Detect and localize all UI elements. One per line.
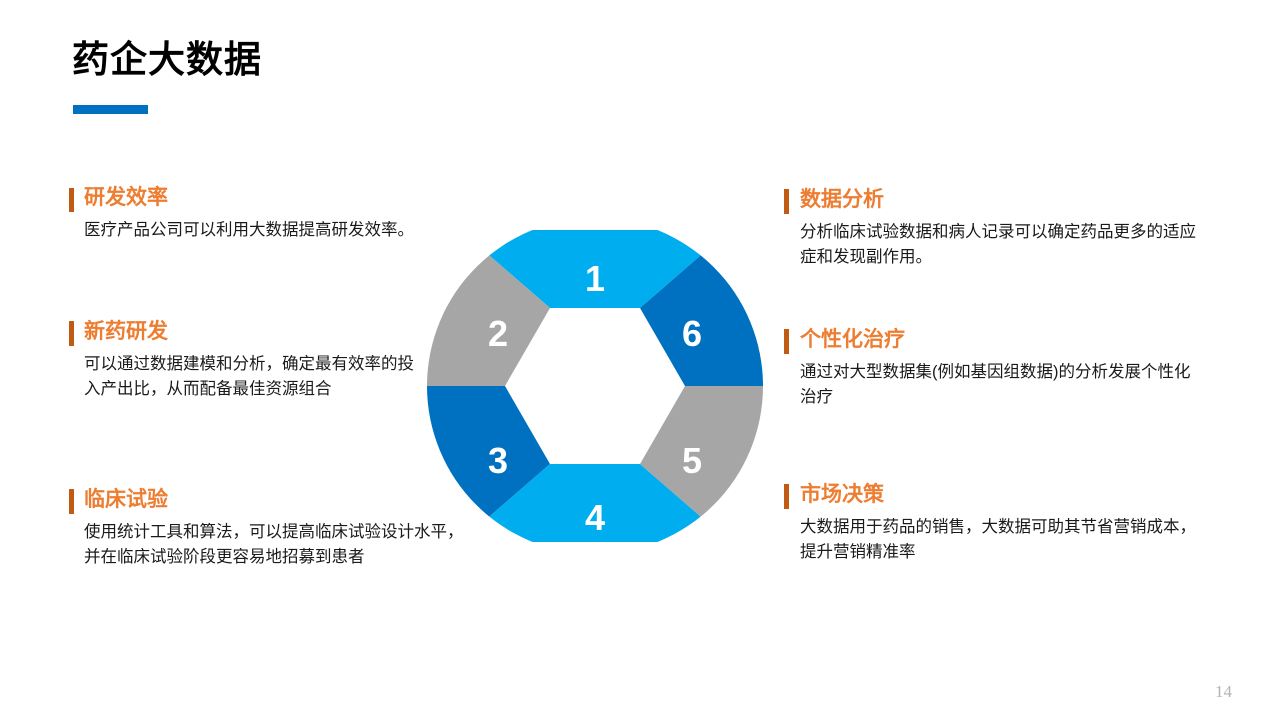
info-block-new-drug-rd: 新药研发 可以通过数据建模和分析，确定最有效率的投入产出比，从而配备最佳资源组合: [84, 320, 414, 402]
info-block-body: 可以通过数据建模和分析，确定最有效率的投入产出比，从而配备最佳资源组合: [84, 352, 414, 402]
info-block-body: 医疗产品公司可以利用大数据提高研发效率。: [84, 218, 414, 243]
info-block-heading: 临床试验: [84, 488, 464, 512]
info-block-heading: 数据分析: [800, 188, 1200, 212]
info-block-market-decision: 市场决策 大数据用于药品的销售，大数据可助其节省营销成本，提升营销精准率: [800, 483, 1210, 565]
info-block-body: 使用统计工具和算法，可以提高临床试验设计水平，并在临床试验阶段更容易地招募到患者: [84, 520, 464, 570]
page-number: 14: [1215, 682, 1232, 702]
info-block-body: 分析临床试验数据和病人记录可以确定药品更多的适应症和发现副作用。: [800, 220, 1200, 270]
info-block-data-analysis: 数据分析 分析临床试验数据和病人记录可以确定药品更多的适应症和发现副作用。: [800, 188, 1200, 270]
hex-segment-2-label: 2: [488, 313, 508, 354]
info-block-heading: 个性化治疗: [800, 328, 1200, 352]
accent-bar-icon: [69, 321, 74, 346]
hex-segment-4-label: 4: [585, 497, 605, 538]
info-block-heading-text: 新药研发: [84, 320, 168, 343]
info-block-clinical-trial: 临床试验 使用统计工具和算法，可以提高临床试验设计水平，并在临床试验阶段更容易地…: [84, 488, 464, 570]
info-block-body: 大数据用于药品的销售，大数据可助其节省营销成本，提升营销精准率: [800, 515, 1210, 565]
accent-bar-icon: [784, 484, 789, 509]
accent-bar-icon: [69, 489, 74, 514]
info-block-heading-text: 数据分析: [800, 188, 884, 211]
hex-segment-5-label: 5: [682, 440, 702, 481]
hex-segment-3-label: 3: [488, 440, 508, 481]
accent-bar-icon: [69, 188, 74, 212]
page-title: 药企大数据: [72, 40, 262, 81]
info-block-heading-text: 个性化治疗: [800, 328, 905, 351]
info-block-heading-text: 临床试验: [84, 488, 168, 511]
accent-bar-icon: [784, 189, 789, 214]
hexagon-donut-diagram: 1 2 3 4 5 6: [427, 218, 763, 554]
accent-bar-icon: [784, 329, 789, 354]
hex-segment-1-label: 1: [585, 258, 605, 299]
info-block-body: 通过对大型数据集(例如基因组数据)的分析发展个性化治疗: [800, 360, 1200, 410]
info-block-personalized-treatment: 个性化治疗 通过对大型数据集(例如基因组数据)的分析发展个性化治疗: [800, 328, 1200, 410]
hex-segment-6-label: 6: [682, 313, 702, 354]
info-block-heading-text: 研发效率: [84, 186, 168, 209]
title-underline-bar: [73, 105, 148, 114]
info-block-heading-text: 市场决策: [800, 483, 884, 506]
info-block-research-efficiency: 研发效率 医疗产品公司可以利用大数据提高研发效率。: [84, 186, 414, 243]
info-block-heading: 市场决策: [800, 483, 1210, 507]
info-block-heading: 新药研发: [84, 320, 414, 344]
info-block-heading: 研发效率: [84, 186, 414, 210]
